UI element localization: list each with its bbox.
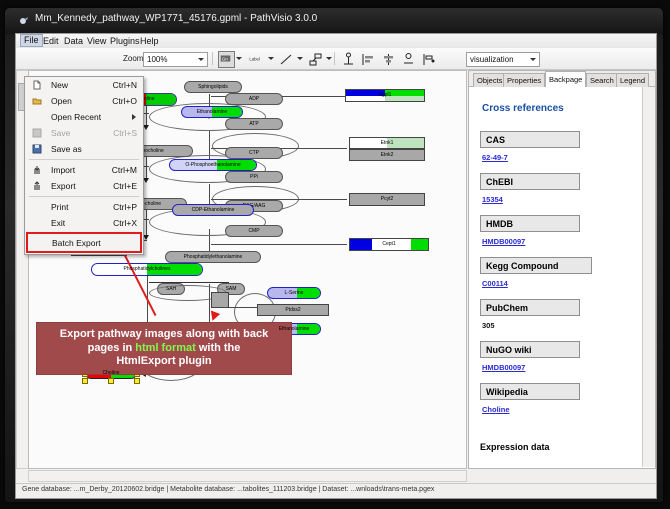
- node-label: Etnk1: [381, 141, 394, 146]
- menu-label: Batch Export: [52, 238, 101, 248]
- tab-search[interactable]: Search: [586, 73, 618, 87]
- menu-item-open[interactable]: Open Ctrl+O: [25, 93, 143, 109]
- zoom-combo[interactable]: 100%: [143, 52, 208, 67]
- save-icon: [32, 128, 42, 138]
- chevron-down-icon: [530, 58, 536, 61]
- annotation-callout: Export pathway images along with back pa…: [36, 322, 292, 375]
- node-label: ATP: [249, 122, 258, 127]
- menu-item-save-as[interactable]: Save as: [25, 141, 143, 157]
- line-dropdown-icon[interactable]: [297, 57, 303, 60]
- menu-accel: Ctrl+X: [113, 218, 137, 228]
- edge-phosphocholine-cdpcholine: [146, 153, 147, 181]
- side-panel-scrollbar[interactable]: [642, 87, 655, 467]
- menu-label: Save as: [51, 144, 82, 154]
- xref-db-pubchem: PubChem: [480, 299, 580, 316]
- menu-item-open-recent[interactable]: Open Recent: [25, 109, 143, 125]
- xref-db-wikipedia: Wikipedia: [480, 383, 580, 400]
- node-label: Ethanolamine: [279, 327, 310, 332]
- new-file-icon: [32, 80, 42, 90]
- selection-handle[interactable]: [134, 378, 140, 384]
- xref-db-hmdb: HMDB: [480, 215, 580, 232]
- xref-link-hmdb[interactable]: HMDB00097: [482, 237, 525, 246]
- metabolite-node-phosphatidylcholines[interactable]: Phosphatidylcholines: [91, 263, 203, 276]
- node-label: PPi: [250, 175, 258, 180]
- menu-item-batch-export[interactable]: Batch Export: [26, 232, 142, 253]
- metabolite-node-ethanolamine[interactable]: Ethanolamine: [181, 106, 243, 118]
- gene-node-pcyt2[interactable]: Pcyt2: [349, 193, 425, 206]
- xref-db-kegg: Kegg Compound: [480, 257, 592, 274]
- gene-node-etnk1[interactable]: Etnk1: [349, 137, 425, 149]
- node-label: Ethanolamine: [197, 110, 228, 115]
- status-bar: Gene database: ...m_Derby_20120602.bridg…: [16, 483, 656, 498]
- status-text: Gene database: ...m_Derby_20120602.bridg…: [22, 486, 434, 493]
- export-icon: [32, 181, 42, 191]
- xref-db-nugo: NuGO wiki: [480, 341, 580, 358]
- metabolite-node-ctp[interactable]: CTP: [225, 147, 283, 159]
- node-label: CMP: [248, 229, 259, 234]
- edge-methylation: [149, 282, 229, 283]
- menu-accel: Ctrl+P: [113, 202, 137, 212]
- line-button[interactable]: [278, 51, 295, 68]
- menu-view[interactable]: View: [84, 35, 109, 47]
- menu-data[interactable]: Data: [61, 35, 86, 47]
- menu-label: Print: [51, 202, 68, 212]
- metabolite-node-sphingolipids[interactable]: Sphingolipids: [184, 81, 242, 93]
- node-label: Sphingolipids: [198, 85, 228, 90]
- reaction-box[interactable]: [211, 292, 229, 308]
- visualization-value: visualization: [470, 55, 514, 64]
- xref-link-cas[interactable]: 62-49-7: [482, 153, 508, 162]
- xref-link-kegg[interactable]: C00114: [482, 279, 508, 288]
- gene-node-cept1[interactable]: Cept1: [349, 238, 429, 251]
- toolbar-separator-1: [212, 52, 213, 65]
- app-client-area: File Edit Data View Plugins Help Zoom: 1…: [15, 33, 657, 499]
- gene-node-etnk2[interactable]: Etnk2: [349, 149, 425, 161]
- menu-label: New: [51, 80, 68, 90]
- menu-item-import[interactable]: Import Ctrl+M: [25, 162, 143, 178]
- zoom-value: 100%: [147, 55, 167, 64]
- metabolite-node-cdp-ethanolamine[interactable]: CDP-Ethanolamine: [172, 204, 254, 216]
- xref-link-chebi[interactable]: 15354: [482, 195, 503, 204]
- xref-value-pubchem: 305: [482, 321, 495, 330]
- menu-label: Export: [51, 181, 76, 191]
- tab-legend[interactable]: Legend: [616, 73, 649, 87]
- svg-text:Gn: Gn: [222, 57, 228, 62]
- menu-accel: Ctrl+S: [113, 128, 137, 138]
- menu-help[interactable]: Help: [137, 35, 162, 47]
- callout-line-1: Export pathway images along with back: [60, 328, 268, 340]
- node-label: Choline: [103, 371, 120, 376]
- app-icon: [19, 16, 29, 26]
- metabolite-node-l-serine[interactable]: L-Serine: [267, 287, 321, 299]
- menu-item-new[interactable]: New Ctrl+N: [25, 77, 143, 93]
- canvas-horizontal-scrollbar[interactable]: [28, 470, 467, 482]
- menu-item-save: Save Ctrl+S: [25, 125, 143, 141]
- menu-separator: [29, 196, 139, 197]
- shape-button[interactable]: [307, 51, 324, 68]
- menu-item-export[interactable]: Export Ctrl+E: [25, 178, 143, 194]
- node-label: Etnk2: [381, 153, 394, 158]
- window-title: Mm_Kennedy_pathway_WP1771_45176.gpml - P…: [35, 13, 317, 24]
- metabolite-node-ppi[interactable]: PPi: [225, 171, 283, 183]
- shape-dropdown-icon[interactable]: [326, 57, 332, 60]
- expression-data-heading: Expression data: [480, 442, 550, 452]
- chevron-down-icon: [198, 58, 204, 61]
- menu-accel: Ctrl+O: [112, 96, 137, 106]
- callout-line-3: HtmlExport plugin: [116, 355, 211, 367]
- chevron-right-icon: [132, 114, 136, 120]
- node-label: L-Serine: [285, 291, 304, 296]
- svg-text:Label: Label: [249, 57, 260, 62]
- node-label: Phosphatidylcholines: [124, 267, 171, 272]
- node-label: CTP: [249, 151, 259, 156]
- node-label: CDP-Ethanolamine: [192, 208, 235, 213]
- xref-db-chebi: ChEBI: [480, 173, 580, 190]
- screenshot-root: Mm_Kennedy_pathway_WP1771_45176.gpml - P…: [0, 0, 670, 509]
- visualization-combo[interactable]: visualization: [466, 52, 540, 67]
- import-icon: [32, 165, 42, 175]
- selection-handle[interactable]: [82, 378, 88, 384]
- menu-label: Import: [51, 165, 75, 175]
- node-label: Sgpl1: [379, 93, 392, 98]
- toolbar-separator-2: [334, 52, 335, 65]
- application-window: Mm_Kennedy_pathway_WP1771_45176.gpml - P…: [5, 8, 663, 502]
- menu-label: Exit: [51, 218, 65, 228]
- metabolite-node-atp[interactable]: ATP: [225, 118, 283, 130]
- tab-objects[interactable]: Objects: [473, 73, 506, 87]
- node-label: Pcyt2: [381, 197, 394, 202]
- menu-label: Open Recent: [51, 112, 101, 122]
- menu-bar: File Edit Data View Plugins Help: [16, 34, 656, 49]
- side-panel-tabstrip: Objects Properties Backpage Search Legen…: [469, 71, 655, 87]
- tab-backpage[interactable]: Backpage: [545, 71, 586, 87]
- selection-handle[interactable]: [108, 378, 114, 384]
- node-label: SAM: [226, 287, 237, 292]
- gene-node-ptdss2[interactable]: Ptdss2: [257, 304, 329, 316]
- node-label: O-Phosphoethanolamine: [185, 163, 240, 168]
- menu-separator: [29, 159, 139, 160]
- align-right-button[interactable]: [420, 51, 437, 68]
- menu-accel: Ctrl+N: [113, 80, 137, 90]
- menu-label: Open: [51, 96, 72, 106]
- align-center-button[interactable]: [380, 51, 397, 68]
- save-as-icon: [32, 144, 42, 154]
- node-label: Ptdss2: [285, 308, 300, 313]
- menu-accel: Ctrl+E: [113, 181, 137, 191]
- metabolite-node-phosphatidylethanolamine[interactable]: Phosphatidylethanolamine: [165, 251, 261, 263]
- gene-node-sgpl1[interactable]: Sgpl1: [345, 89, 425, 102]
- node-label: Phosphatidylethanolamine: [184, 255, 243, 260]
- metabolite-node-adp[interactable]: ADP: [225, 93, 283, 105]
- menu-edit[interactable]: Edit: [40, 35, 62, 47]
- datanode-button[interactable]: Gn: [218, 51, 235, 68]
- tab-properties[interactable]: Properties: [503, 73, 545, 87]
- align-left-button[interactable]: [360, 51, 377, 68]
- label-button[interactable]: Label: [246, 51, 270, 68]
- backpage-content: Cross references CAS 62-49-7 ChEBI 15354…: [470, 87, 642, 465]
- node-label: ADP: [249, 97, 259, 102]
- open-folder-icon: [32, 96, 42, 106]
- title-bar[interactable]: Mm_Kennedy_pathway_WP1771_45176.gpml - P…: [5, 8, 663, 34]
- menu-item-print[interactable]: Print Ctrl+P: [25, 199, 143, 215]
- metabolite-node-o-phosphoethanolamine[interactable]: O-Phosphoethanolamine: [169, 159, 257, 171]
- toolbar: Zoom: 100% Gn Label: [16, 48, 656, 70]
- datanode-dropdown-icon[interactable]: [236, 57, 242, 60]
- callout-line-2-pre: pages in: [88, 342, 136, 354]
- xref-link-nugo[interactable]: HMDB00097: [482, 363, 525, 372]
- menu-item-exit[interactable]: Exit Ctrl+X: [25, 215, 143, 231]
- xref-db-cas: CAS: [480, 131, 580, 148]
- menu-label: Save: [51, 128, 70, 138]
- menu-accel: Ctrl+M: [112, 165, 137, 175]
- node-label: Cept1: [382, 242, 395, 247]
- side-panel: Objects Properties Backpage Search Legen…: [468, 70, 656, 469]
- label-dropdown-icon[interactable]: [268, 57, 274, 60]
- callout-line-2-post: with the: [196, 342, 241, 354]
- cross-references-heading: Cross references: [482, 103, 564, 114]
- align-middle-button[interactable]: [400, 51, 417, 68]
- file-menu-dropdown[interactable]: New Ctrl+N Open Ctrl+O Open Recent Save …: [24, 76, 144, 255]
- anchor-button[interactable]: [340, 51, 357, 68]
- callout-highlight: html format: [135, 342, 196, 354]
- xref-link-wikipedia[interactable]: Choline: [482, 405, 510, 414]
- edge-cept1-stub: [211, 244, 347, 245]
- metabolite-node-cmp[interactable]: CMP: [225, 225, 283, 237]
